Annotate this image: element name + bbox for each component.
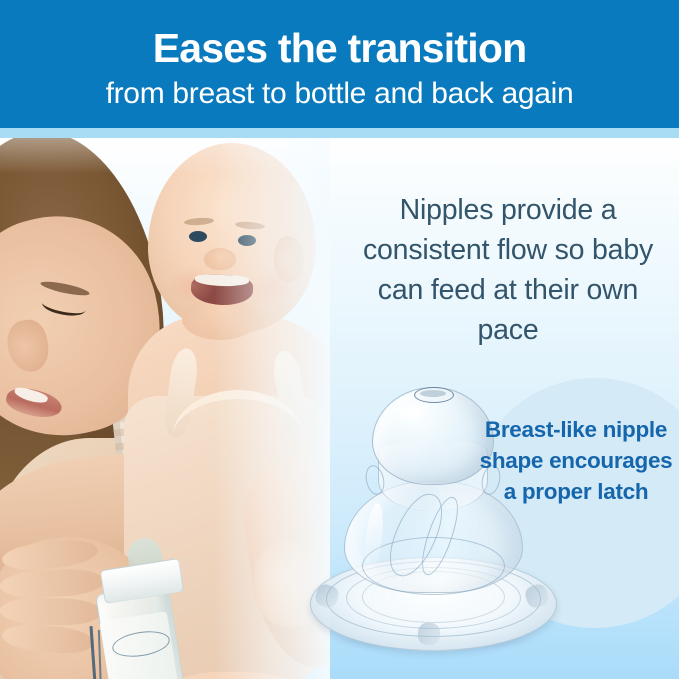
header-band: Eases the transition from breast to bott… — [0, 0, 679, 128]
baby-nose — [204, 248, 236, 270]
baby-eye-right — [238, 235, 256, 246]
product-infographic: Breast-like nipple shape encourages a pr… — [0, 0, 679, 679]
lifestyle-photo — [0, 138, 330, 679]
subheadline: from breast to bottle and back again — [0, 77, 679, 111]
product-base-notch — [417, 622, 440, 645]
baby-eye-left — [189, 231, 207, 242]
header-accent-strip — [0, 128, 679, 138]
product-tip-hole — [420, 390, 446, 397]
baby-cheek-right — [250, 268, 298, 306]
body-copy: Nipples provide a consistent flow so bab… — [352, 190, 664, 350]
mother-finger — [0, 597, 102, 626]
callout-text: Breast-like nipple shape encourages a pr… — [478, 414, 674, 507]
headline: Eases the transition — [0, 25, 679, 71]
